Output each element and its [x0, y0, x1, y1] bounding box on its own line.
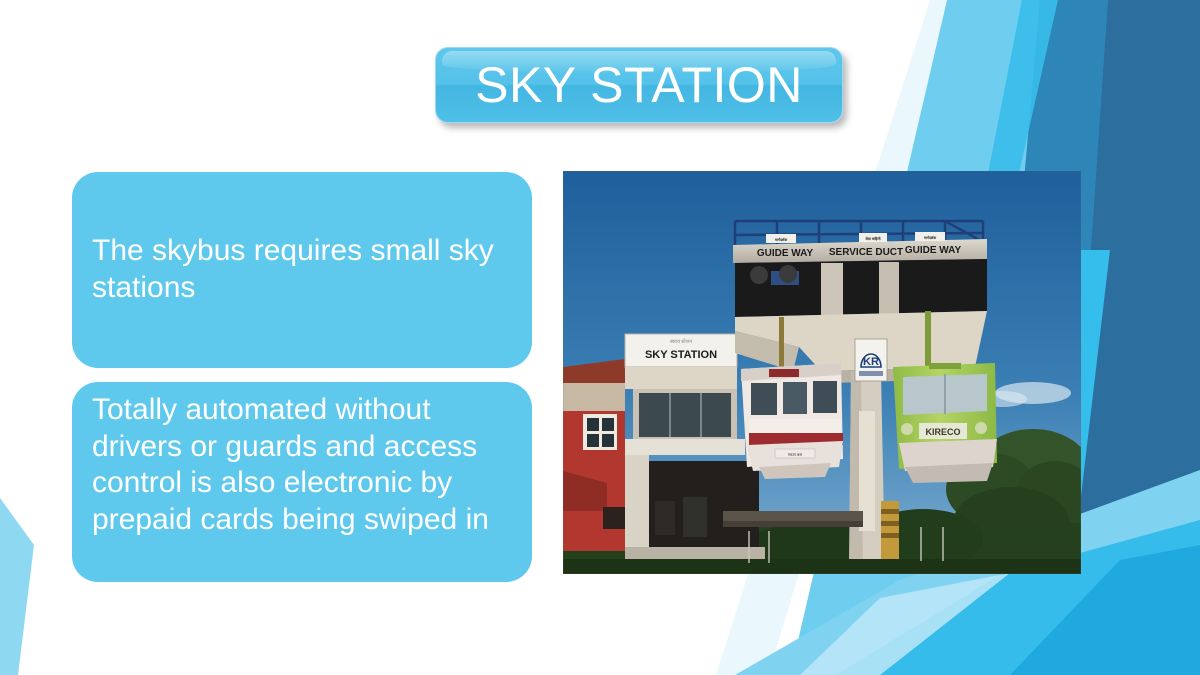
callout-two-text: Totally automated without drivers or gua…	[72, 382, 532, 538]
callout-automated-access: Totally automated without drivers or gua…	[72, 382, 532, 582]
slide-canvas: SKY STATION The skybus requires small sk…	[0, 0, 1200, 675]
facet-left-edge-wedge-2	[0, 498, 34, 675]
photo-sign-guideway-right: GUIDE WAY	[905, 245, 962, 256]
photo-green-coach-marking: KIRECO	[925, 427, 960, 437]
callout-one-text: The skybus requires small sky stations	[72, 233, 532, 306]
photo-sign-guideway-left: GUIDE WAY	[757, 248, 814, 259]
photo-sign-small-2: सेवा वाहिनी	[864, 236, 881, 241]
photo-sign-small-3: मार्गदर्शक	[923, 235, 936, 240]
page-title: SKY STATION	[475, 60, 803, 110]
photo-green-coach: KIRECO	[893, 363, 997, 483]
photo-sign-station-devanagari: स्काय स्टेशन	[670, 338, 692, 345]
photo-red-building	[563, 359, 625, 551]
sky-station-photo: SKY STATION स्काय स्टेशन	[563, 171, 1081, 574]
photo-white-coach-label: स्काय बस	[788, 452, 802, 457]
callout-skybus-requires: The skybus requires small sky stations	[72, 172, 532, 368]
photo-logo-text: KR	[863, 356, 879, 368]
photo-sign-station-name: SKY STATION	[645, 349, 717, 361]
photo-kr-logo-sign: KR	[855, 339, 887, 381]
facet-right-deep-wedge	[1062, 0, 1200, 675]
photo-white-coach: स्काय बस	[741, 363, 843, 479]
facet-bottom-pale-wedge	[800, 573, 1010, 675]
sky-station-photo-illustration: SKY STATION स्काय स्टेशन	[563, 171, 1081, 574]
slide-title-banner: SKY STATION	[435, 47, 843, 123]
photo-sign-small-1: मार्गदर्शक	[774, 237, 787, 242]
photo-sign-service-duct: SERVICE DUCT	[829, 247, 903, 258]
